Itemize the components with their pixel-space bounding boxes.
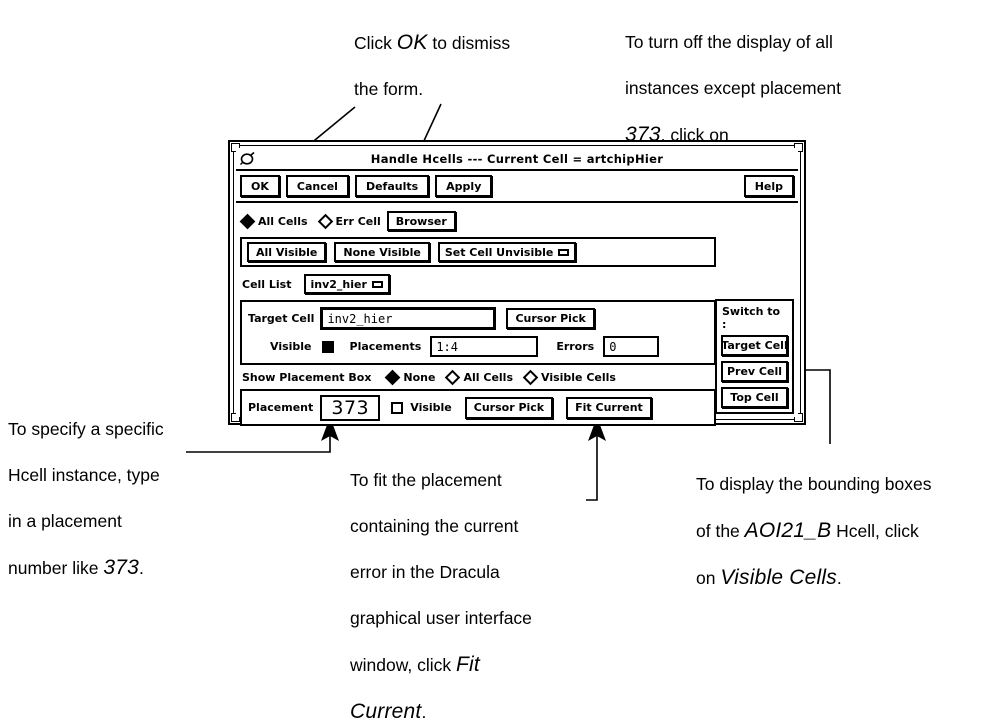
window-client-area: Handle Hcells --- Current Cell = artchip… bbox=[236, 148, 798, 417]
target-cell-input[interactable]: inv2_hier bbox=[320, 307, 496, 330]
annotation-visible-cells-line3-pre: on bbox=[696, 568, 720, 588]
title-bar: Handle Hcells --- Current Cell = artchip… bbox=[236, 148, 798, 171]
placement-cursor-pick-button[interactable]: Cursor Pick bbox=[465, 397, 553, 419]
cell-list-label: Cell List bbox=[242, 278, 292, 291]
radio-all-cells-label: All Cells bbox=[258, 215, 308, 228]
placement-visible-label: Visible bbox=[410, 401, 452, 414]
annotation-fit-line5-pre: window, click bbox=[350, 655, 456, 675]
target-cursor-pick-button[interactable]: Cursor Pick bbox=[506, 308, 594, 329]
switch-top-cell-button[interactable]: Top Cell bbox=[721, 387, 788, 408]
apply-button[interactable]: Apply bbox=[435, 175, 492, 197]
errors-label: Errors bbox=[556, 340, 594, 353]
radio-spb-visible-cells[interactable]: Visible Cells bbox=[525, 371, 616, 384]
switch-target-cell-button[interactable]: Target Cell bbox=[721, 335, 788, 356]
annotation-fit-line1: To fit the placement bbox=[350, 470, 502, 490]
radio-spb-all-cells-label: All Cells bbox=[463, 371, 513, 384]
errors-input[interactable]: 0 bbox=[603, 336, 659, 357]
annotation-placement-line4-pre: number like bbox=[8, 558, 103, 578]
target-cell-row: Target Cell inv2_hier Cursor Pick bbox=[248, 307, 708, 330]
annotation-placement-line2: Hcell instance, type bbox=[8, 465, 160, 485]
fit-current-button[interactable]: Fit Current bbox=[566, 397, 652, 419]
annotation-ok-line1-post: to dismiss bbox=[428, 33, 511, 53]
form-body: All Cells Err Cell Browser All Visible N… bbox=[236, 203, 798, 429]
window-menu-icon[interactable] bbox=[239, 150, 256, 166]
target-visible-label: Visible bbox=[270, 340, 312, 353]
target-visible-checkbox[interactable] bbox=[322, 341, 334, 353]
annotation-visible-cells-line1: To display the bounding boxes bbox=[696, 474, 931, 494]
cell-list-row: Cell List inv2_hier bbox=[242, 274, 794, 294]
target-cell-group: Target Cell inv2_hier Cursor Pick Visibl… bbox=[240, 300, 716, 365]
window-frame: Handle Hcells --- Current Cell = artchip… bbox=[228, 140, 806, 425]
target-status-row: Visible Placements 1:4 Errors 0 bbox=[248, 336, 708, 357]
radio-spb-none[interactable]: None bbox=[387, 371, 435, 384]
annotation-visible-cells-line2-pre: of the bbox=[696, 521, 745, 541]
annotation-visible-cells-emphasis: Visible Cells bbox=[720, 566, 837, 589]
switch-to-panel: Switch to : Target Cell Prev Cell Top Ce… bbox=[715, 299, 794, 414]
annotation-ok-line1-pre: Click bbox=[354, 33, 397, 53]
annotation-placement-line3: in a placement bbox=[8, 511, 122, 531]
annotation-visible-cells-hcell: AOI21_B bbox=[745, 519, 832, 542]
annotation-none-visible-line2: instances except placement bbox=[625, 78, 841, 98]
placements-input[interactable]: 1:4 bbox=[430, 336, 538, 357]
ok-button[interactable]: OK bbox=[240, 175, 280, 197]
annotation-fit-line4: graphical user interface bbox=[350, 608, 532, 628]
annotation-placement-number: To specify a specific Hcell instance, ty… bbox=[8, 395, 223, 580]
show-placement-box-row: Show Placement Box None All Cells Visibl… bbox=[242, 371, 794, 384]
radio-all-cells[interactable]: All Cells bbox=[242, 215, 308, 228]
radio-diamond-icon bbox=[523, 370, 539, 386]
radio-diamond-icon bbox=[385, 370, 401, 386]
switch-prev-cell-button[interactable]: Prev Cell bbox=[721, 361, 788, 382]
annotation-none-visible-line1: To turn off the display of all bbox=[625, 32, 833, 52]
annotation-fit-emphasis-2: Current bbox=[350, 700, 421, 723]
radio-err-cell-label: Err Cell bbox=[336, 215, 381, 228]
radio-spb-visible-cells-label: Visible Cells bbox=[541, 371, 616, 384]
annotation-visible-cells-line3-post: . bbox=[837, 568, 842, 588]
cell-mode-row: All Cells Err Cell Browser bbox=[242, 211, 794, 231]
annotation-ok-line2: the form. bbox=[354, 79, 423, 99]
annotation-ok: Click OK to dismiss the form. bbox=[354, 8, 584, 101]
browser-button[interactable]: Browser bbox=[387, 211, 456, 231]
switch-to-header: Switch to : bbox=[722, 305, 788, 331]
radio-err-cell[interactable]: Err Cell bbox=[320, 215, 381, 228]
dialog-title: Handle Hcells --- Current Cell = artchip… bbox=[236, 152, 798, 166]
visibility-group: All Visible None Visible Set Cell Unvisi… bbox=[240, 237, 716, 267]
handle-hcells-dialog: Handle Hcells --- Current Cell = artchip… bbox=[228, 140, 806, 425]
placement-label: Placement bbox=[248, 401, 313, 414]
annotation-fit-line2: containing the current bbox=[350, 516, 518, 536]
help-button[interactable]: Help bbox=[744, 175, 794, 197]
placement-group: Placement 373 Visible Cursor Pick Fit Cu… bbox=[240, 389, 716, 426]
radio-spb-none-label: None bbox=[403, 371, 435, 384]
placement-input[interactable]: 373 bbox=[320, 395, 380, 421]
cell-list-value: inv2_hier bbox=[311, 278, 367, 291]
show-placement-box-label: Show Placement Box bbox=[242, 371, 371, 384]
annotation-fit-line3: error in the Dracula bbox=[350, 562, 500, 582]
placement-visible-checkbox[interactable] bbox=[391, 402, 403, 414]
set-cell-unvisible-label: Set Cell Unvisible bbox=[445, 246, 554, 259]
placements-label: Placements bbox=[350, 340, 422, 353]
all-visible-button[interactable]: All Visible bbox=[247, 242, 326, 262]
annotation-fit-line6-post: . bbox=[421, 702, 426, 722]
annotation-placement-emphasis: 373 bbox=[103, 556, 139, 579]
cell-list-optionmenu[interactable]: inv2_hier bbox=[304, 274, 390, 294]
action-button-area: OK Cancel Defaults Apply Help bbox=[236, 171, 798, 203]
annotation-visible-cells-line2-post: Hcell, click bbox=[831, 521, 919, 541]
annotation-ok-emphasis: OK bbox=[397, 31, 428, 54]
annotation-fit-current: To fit the placement containing the curr… bbox=[350, 446, 595, 724]
radio-diamond-icon bbox=[240, 213, 256, 229]
radio-diamond-icon bbox=[445, 370, 461, 386]
annotation-placement-line1: To specify a specific bbox=[8, 419, 164, 439]
annotation-placement-line4-post: . bbox=[139, 558, 144, 578]
annotation-visible-cells: To display the bounding boxes of the AOI… bbox=[696, 450, 986, 590]
option-menu-indicator-icon bbox=[558, 249, 569, 256]
radio-diamond-icon bbox=[317, 213, 333, 229]
none-visible-button[interactable]: None Visible bbox=[334, 242, 429, 262]
option-menu-indicator-icon bbox=[372, 281, 383, 288]
set-cell-unvisible-optionmenu[interactable]: Set Cell Unvisible bbox=[438, 242, 577, 262]
radio-spb-all-cells[interactable]: All Cells bbox=[447, 371, 513, 384]
cancel-button[interactable]: Cancel bbox=[286, 175, 349, 197]
target-cell-label: Target Cell bbox=[248, 312, 314, 325]
annotation-fit-emphasis-1: Fit bbox=[456, 653, 480, 676]
defaults-button[interactable]: Defaults bbox=[355, 175, 429, 197]
